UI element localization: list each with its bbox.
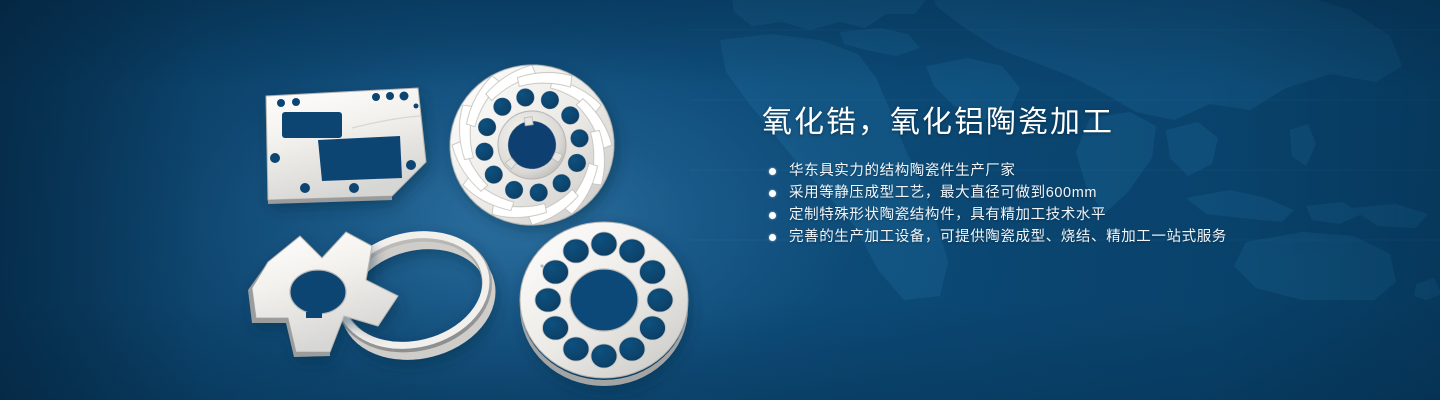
list-item: 华东具实力的结构陶瓷件生产厂家 xyxy=(762,164,1382,179)
ceramic-impeller-part xyxy=(425,38,640,253)
list-item: 完善的生产加工设备，可提供陶瓷成型、烧结、精加工一站式服务 xyxy=(762,230,1382,245)
bullet-dot-icon xyxy=(769,234,776,241)
feature-text: 采用等静压成型工艺，最大直径可做到600mm xyxy=(789,186,1097,201)
feature-text: 华东具实力的结构陶瓷件生产厂家 xyxy=(789,164,1016,179)
ceramic-flange-disc-part xyxy=(520,222,688,386)
page-title: 氧化锆，氧化铝陶瓷加工 xyxy=(762,104,1382,142)
list-item: 定制特殊形状陶瓷结构件，具有精加工技术水平 xyxy=(762,208,1382,223)
ceramic-products-image xyxy=(0,0,760,400)
feature-text: 定制特殊形状陶瓷结构件，具有精加工技术水平 xyxy=(789,208,1106,223)
feature-text: 完善的生产加工设备，可提供陶瓷成型、烧结、精加工一站式服务 xyxy=(789,230,1227,245)
bullet-dot-icon xyxy=(769,168,776,175)
bullet-dot-icon xyxy=(769,190,776,197)
list-item: 采用等静压成型工艺，最大直径可做到600mm xyxy=(762,186,1382,201)
bullet-dot-icon xyxy=(769,212,776,219)
feature-list: 华东具实力的结构陶瓷件生产厂家 采用等静压成型工艺，最大直径可做到600mm 定… xyxy=(762,164,1382,245)
promo-banner: 氧化锆，氧化铝陶瓷加工 华东具实力的结构陶瓷件生产厂家 采用等静压成型工艺，最大… xyxy=(0,0,1440,400)
banner-copy: 氧化锆，氧化铝陶瓷加工 华东具实力的结构陶瓷件生产厂家 采用等静压成型工艺，最大… xyxy=(762,104,1382,252)
ceramic-plate-part xyxy=(266,88,426,204)
